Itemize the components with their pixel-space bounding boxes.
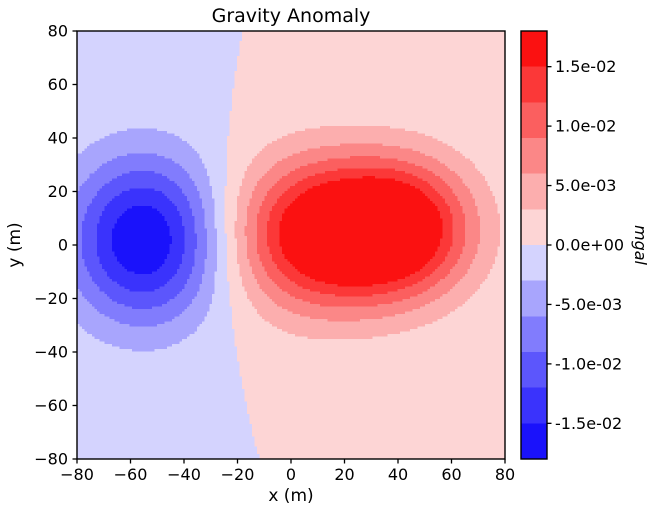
x-tick-label: 60: [441, 465, 461, 484]
colorbar-tick-label: -1.5e-02: [555, 414, 622, 433]
y-tick-label: 40: [48, 129, 68, 148]
y-axis-label: y (m): [5, 222, 25, 267]
colorbar-tick-label: 1.0e-02: [555, 117, 616, 136]
x-tick-label: 80: [495, 465, 515, 484]
y-tick-label: −60: [34, 396, 68, 415]
colorbar-tick-label: 0.0e+00: [555, 236, 624, 255]
x-tick-label: 20: [334, 465, 354, 484]
y-tick-label: 0: [58, 236, 68, 255]
colorbar-label: mgal: [631, 225, 650, 266]
x-axis-label: x (m): [268, 486, 313, 506]
y-tick-label: −80: [34, 450, 68, 469]
colorbar-tick-label: 5.0e-03: [555, 176, 616, 195]
figure-canvas: Gravity Anomaly −80−60−40−20020406080 −8…: [0, 0, 655, 513]
y-tick-label: 80: [48, 22, 68, 41]
x-tick-label: 0: [286, 465, 296, 484]
y-tick-label: 60: [48, 75, 68, 94]
colorbar-gradient[interactable]: [521, 31, 547, 459]
y-tick-label: −20: [34, 289, 68, 308]
contour-band-0: [112, 206, 172, 274]
y-tick-label: 20: [48, 182, 68, 201]
colorbar-tick-label: -5.0e-03: [555, 295, 622, 314]
colorbar-tick-label: -1.0e-02: [555, 354, 622, 373]
x-tick-label: 40: [388, 465, 408, 484]
y-tick-label: −40: [34, 343, 68, 362]
colorbar-tick-label: 1.5e-02: [555, 57, 616, 76]
x-tick-label: −60: [114, 465, 148, 484]
chart-title: Gravity Anomaly: [212, 5, 371, 27]
x-tick-label: −20: [221, 465, 255, 484]
contour-field: [77, 31, 505, 459]
x-tick-label: −40: [167, 465, 201, 484]
gravity-anomaly-figure: Gravity Anomaly −80−60−40−20020406080 −8…: [0, 0, 655, 513]
